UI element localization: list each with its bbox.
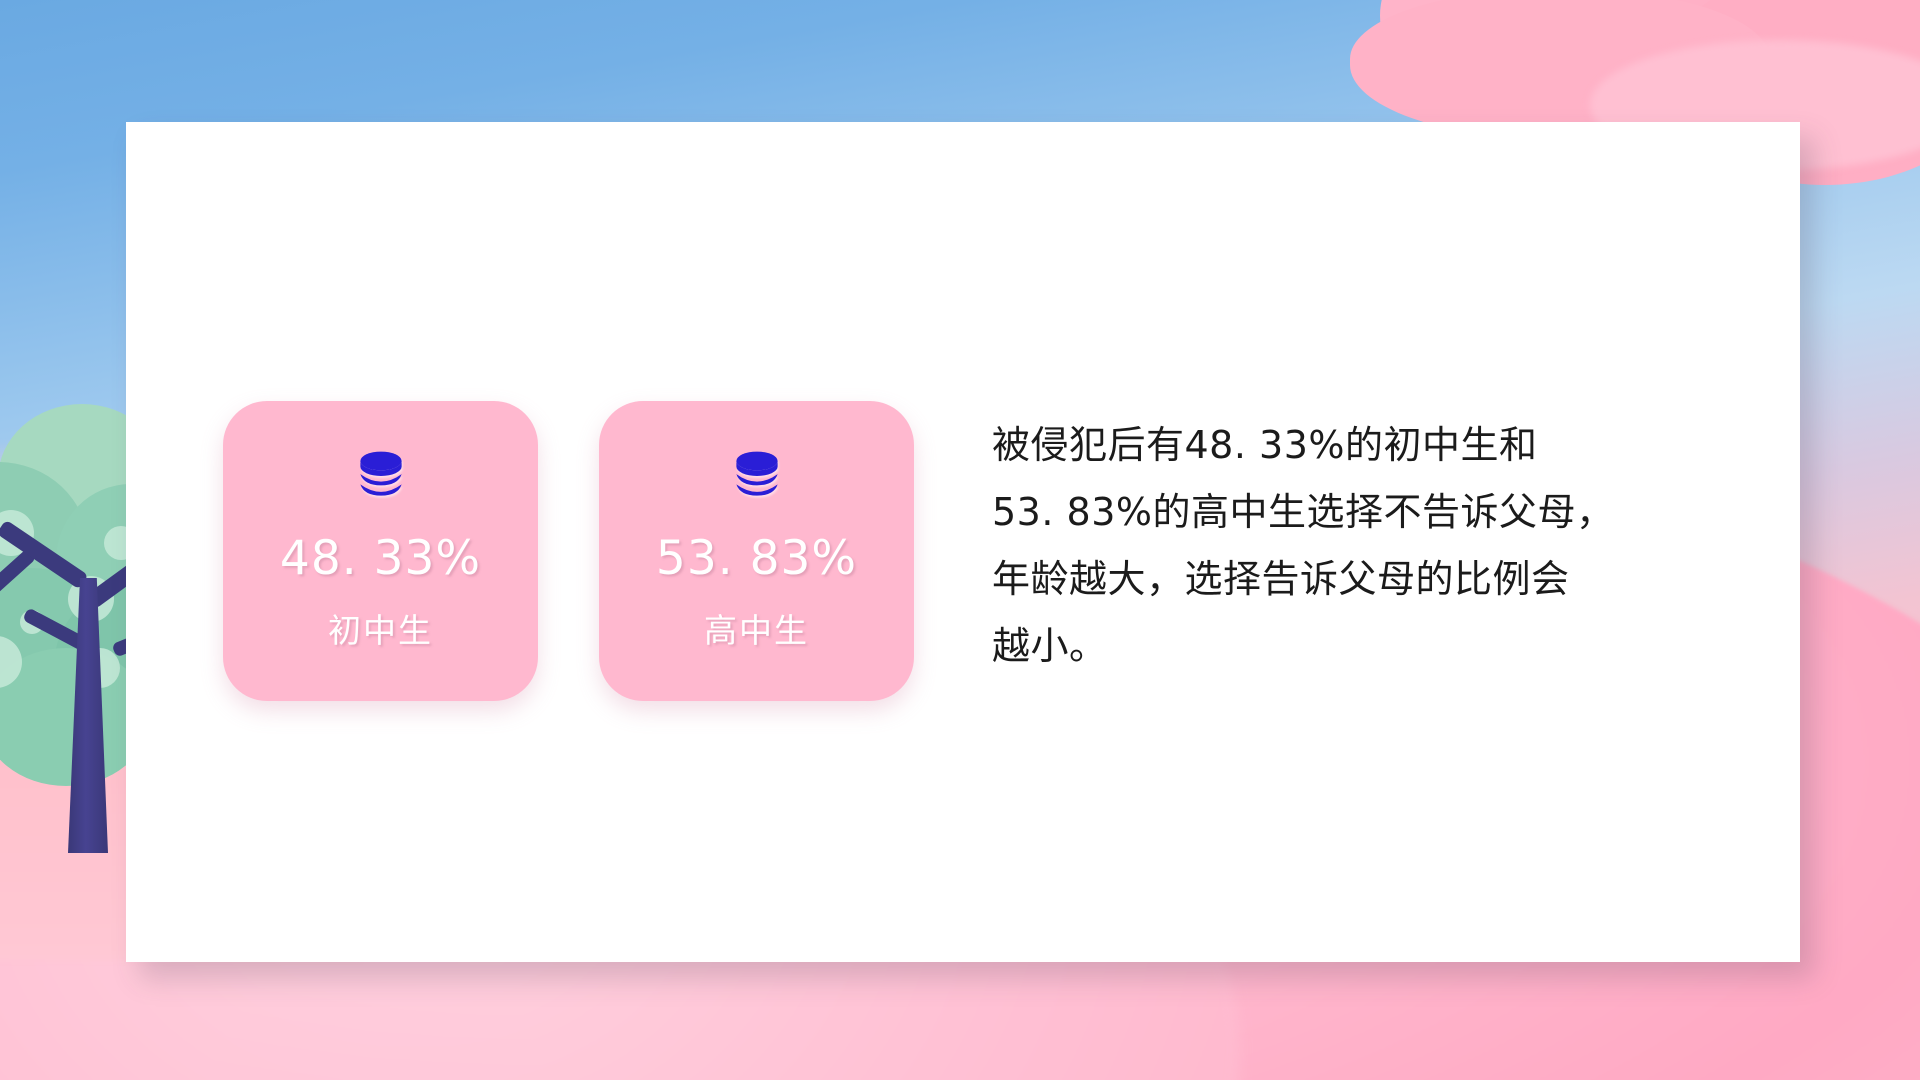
paragraph-line: 年龄越大，选择告诉父母的比例会 — [992, 546, 1722, 613]
paragraph-line: 53. 83%的高中生选择不告诉父母， — [992, 479, 1722, 546]
stat-label: 初中生 — [328, 604, 433, 652]
database-stack-icon — [351, 445, 411, 505]
database-stack-icon — [727, 445, 787, 505]
stat-card-group: 48. 33% 初中生 53. 83% 高中生 — [223, 401, 914, 701]
description-paragraph: 被侵犯后有48. 33%的初中生和 53. 83%的高中生选择不告诉父母， 年龄… — [992, 412, 1722, 680]
stat-value: 53. 83% — [656, 531, 857, 586]
paragraph-line: 越小。 — [992, 613, 1722, 680]
stat-card-junior-high[interactable]: 48. 33% 初中生 — [223, 401, 538, 701]
paragraph-line: 被侵犯后有48. 33%的初中生和 — [992, 412, 1722, 479]
stat-card-senior-high[interactable]: 53. 83% 高中生 — [599, 401, 914, 701]
content-card: 48. 33% 初中生 53. 83% 高中生 被侵犯后有48. 33%的初中生… — [126, 122, 1800, 962]
stat-label: 高中生 — [704, 604, 809, 652]
slide-root: 48. 33% 初中生 53. 83% 高中生 被侵犯后有48. 33%的初中生… — [0, 0, 1920, 1080]
stat-value: 48. 33% — [280, 531, 481, 586]
